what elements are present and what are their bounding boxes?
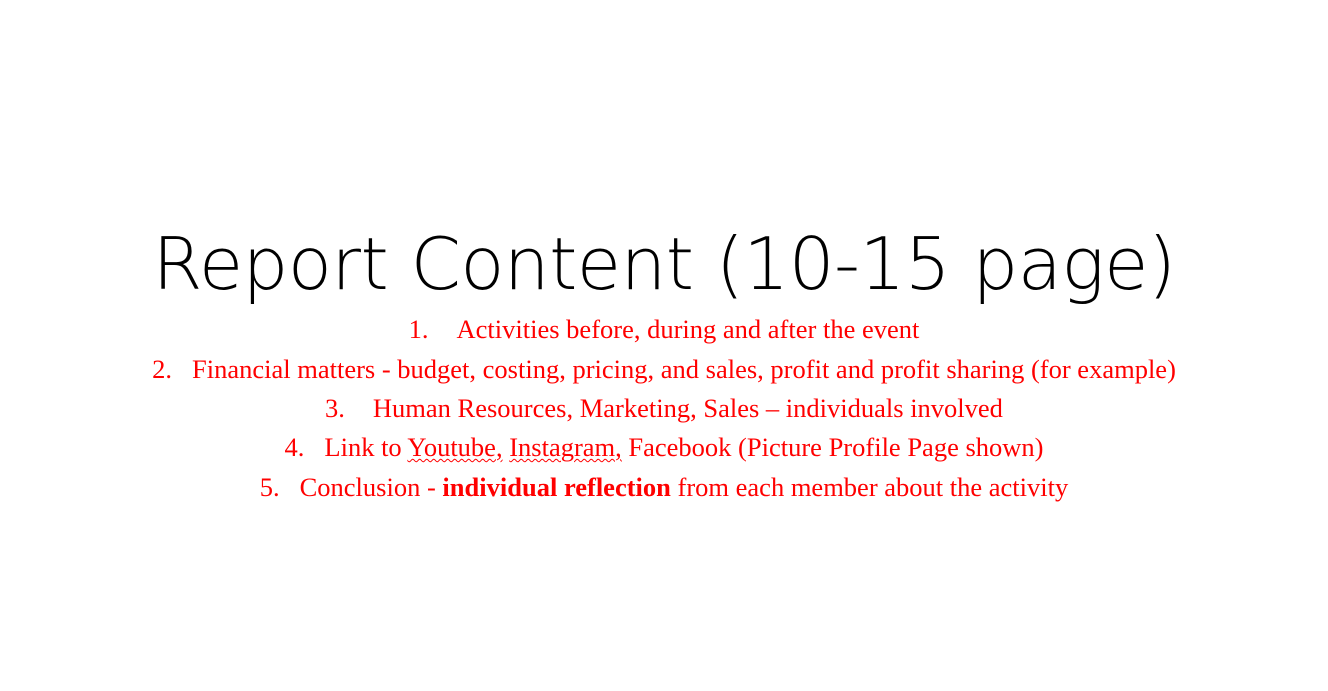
list-item: 5.Conclusion - individual reflection fro… xyxy=(0,474,1328,502)
list-item-text: Human Resources, Marketing, Sales – indi… xyxy=(373,393,1003,423)
list-item: 1.Activities before, during and after th… xyxy=(0,316,1328,344)
list-marker: 1. xyxy=(409,314,429,344)
list-item-text: Activities before, during and after the … xyxy=(457,314,920,344)
list-item-text: Financial matters - budget, costing, pri… xyxy=(192,354,1176,384)
report-content-list: 1.Activities before, during and after th… xyxy=(0,316,1328,501)
list-marker: 2. xyxy=(152,354,172,384)
list-item: 4.Link to Youtube, Instagram, Facebook (… xyxy=(0,434,1328,462)
list-item-text-suffix: from each member about the activity xyxy=(671,472,1068,502)
page-title: Report Content (10-15 page) xyxy=(0,226,1328,304)
list-item-text-suffix: Facebook (Picture Profile Page shown) xyxy=(622,432,1044,462)
misspelled-word-youtube: Youtube, xyxy=(407,432,502,462)
emphasis-individual-reflection: individual reflection xyxy=(442,472,670,502)
misspelled-word-instagram: Instagram, xyxy=(509,432,622,462)
list-item: 3.Human Resources, Marketing, Sales – in… xyxy=(0,395,1328,423)
list-item-text-prefix: Conclusion - xyxy=(300,472,443,502)
slide-canvas: Report Content (10-15 page) 1.Activities… xyxy=(0,0,1328,691)
list-item: 2.Financial matters - budget, costing, p… xyxy=(0,356,1328,383)
list-item-text-prefix: Link to xyxy=(324,432,407,462)
list-marker: 4. xyxy=(285,432,305,462)
list-marker: 5. xyxy=(260,472,280,502)
list-marker: 3. xyxy=(325,393,345,423)
